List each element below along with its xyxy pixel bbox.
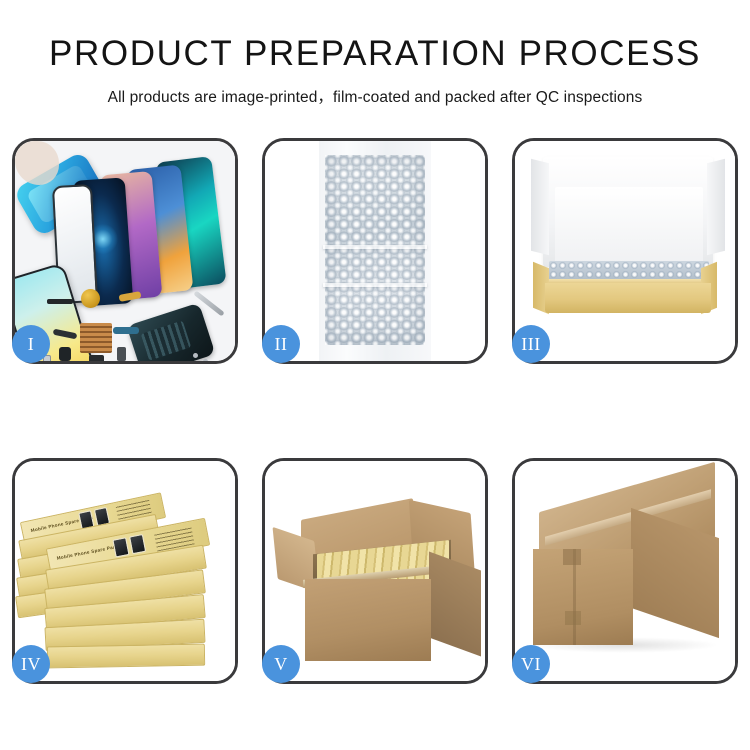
retail-box-front-6 [47,644,205,669]
step-2-image [265,141,485,361]
step-badge-6: VI [512,645,550,683]
step-4-image: Mobile Phone Spare Parts Mobile Phone Sp… [15,461,235,681]
phones-and-parts-scene [15,141,235,361]
carton-right-side [429,552,481,657]
carton-tab-upper [563,549,581,565]
open-carton-scene [265,461,485,681]
camera-module-part [59,347,71,361]
bubble-wrap-sheet [325,155,425,345]
step-badge-5: V [262,645,300,683]
foam-padding [555,187,703,263]
process-step-5[interactable]: V [262,458,488,684]
phone-teardown-back [127,303,216,361]
screw-part-1 [193,353,198,358]
page-subtitle: All products are image-printed，film-coat… [0,85,750,107]
inner-box-scene [515,141,735,361]
process-step-4[interactable]: Mobile Phone Spare Parts Mobile Phone Sp… [12,458,238,684]
step-badge-2: II [262,325,300,363]
box-front-panel [545,283,711,313]
product-preparation-infographic: PRODUCT PREPARATION PROCESS All products… [0,0,750,750]
carton-tab-lower [565,611,581,625]
process-step-3[interactable]: III [512,138,738,364]
sealed-carton-scene [515,461,735,681]
carton-front-panel [305,579,431,661]
step-badge-3: III [512,325,550,363]
battery-connector-part [117,347,126,361]
page-title: PRODUCT PREPARATION PROCESS [0,36,750,73]
step-badge-4: IV [12,645,50,683]
step-6-image [515,461,735,681]
vibration-motor-part [81,289,100,308]
sealed-carton-front [533,549,633,645]
bubble-wrap-seam-1 [323,245,427,249]
screw-part-2 [203,359,208,361]
step-badge-1: I [12,325,50,363]
process-step-2[interactable]: II [262,138,488,364]
step-3-image [515,141,735,361]
bubble-wrap-seam-2 [323,283,427,287]
earpiece-mesh-part [47,299,73,304]
process-step-6[interactable]: VI [512,458,738,684]
flex-cable-blue-part [113,327,139,334]
screw-tray-part [80,323,112,353]
bubble-wrap-scene [265,141,485,361]
process-step-1[interactable]: I [12,138,238,364]
speaker-part [89,355,104,361]
process-step-grid: I II [12,138,738,682]
stacked-boxes-scene: Mobile Phone Spare Parts Mobile Phone Sp… [15,461,235,681]
header: PRODUCT PREPARATION PROCESS All products… [0,0,750,107]
step-5-image [265,461,485,681]
step-1-image [15,141,235,361]
technician-hand [15,141,59,185]
